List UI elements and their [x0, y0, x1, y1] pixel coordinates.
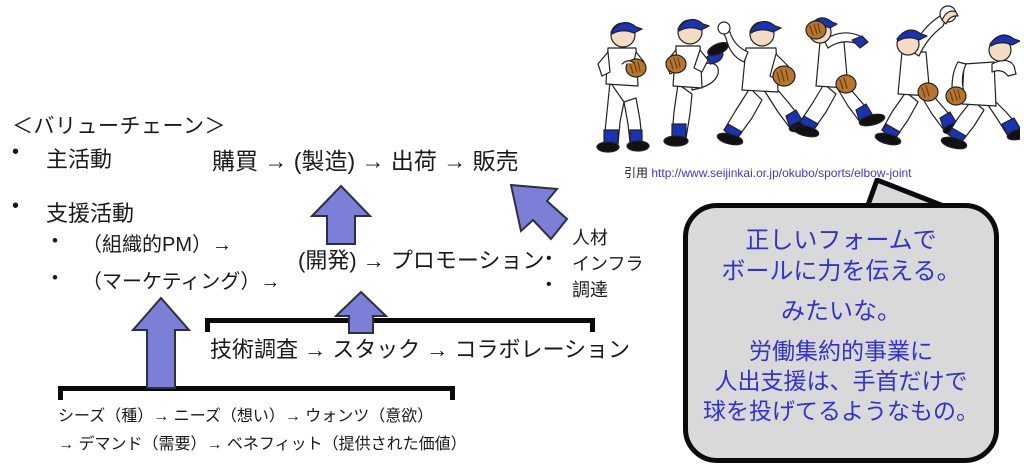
- callout-line-2: ボールに力を伝える。: [721, 256, 960, 287]
- credit-prefix-label: 引用: [624, 166, 648, 180]
- seeds-chain-line-2: → デマンド（需要）→ ベネフィット（提供された価値）: [58, 430, 467, 454]
- arrow-up-tech-to-development: [334, 290, 388, 334]
- callout-text: 正しいフォームで ボールに力を伝える。 みたいな。 労働集約的事業に 人出支援は…: [683, 203, 999, 463]
- support-activities-label: 支援活動: [46, 196, 134, 228]
- arrow-up-seeds-to-marketing: [131, 296, 191, 390]
- resource-label-jinzai: 人材: [572, 225, 608, 251]
- bullet-dot-icon: •: [546, 277, 572, 293]
- primary-activity-chain: 購買 → (製造) → 出荷 → 販売: [212, 142, 519, 176]
- support-sub-label-pm: （組織的PM）→: [82, 228, 232, 257]
- list-item: • 調達: [546, 277, 643, 303]
- bracket-seeds-group: [58, 386, 455, 391]
- pitching-sequence-illustration: [584, 2, 1020, 160]
- bullet-dot-icon: •: [52, 265, 82, 286]
- bullet-dot-icon: •: [52, 228, 82, 249]
- value-chain-header: ＜バリューチェーン＞: [12, 110, 226, 140]
- bullet-dot-icon: •: [12, 196, 46, 216]
- bullet-dot-icon: •: [12, 142, 46, 162]
- callout-line-6: 球を投げてるようなもの。: [703, 396, 979, 426]
- resource-label-infra: インフラ: [572, 251, 643, 277]
- bullet-support-activities: • 支援活動: [12, 196, 134, 228]
- callout-line-5: 人出支援は、手首だけで: [715, 366, 968, 396]
- list-item: • インフラ: [546, 251, 643, 277]
- bullet-primary-activities: • 主活動: [12, 142, 112, 174]
- support-sub-label-marketing: （マーケティング）→: [82, 265, 280, 294]
- bullet-support-sub-1: • （組織的PM）→: [52, 228, 232, 257]
- callout-line-1: 正しいフォームで: [745, 225, 936, 256]
- bullet-support-sub-2: • （マーケティング）→: [52, 265, 280, 294]
- callout-line-3: みたいな。: [781, 296, 901, 327]
- primary-activities-label: 主活動: [46, 142, 112, 174]
- arrow-diagonal-resources-to-primary: [503, 183, 569, 243]
- development-chain: (開発) → プロモーション: [298, 243, 544, 275]
- arrow-up-development-to-primary: [310, 184, 372, 246]
- bullet-dot-icon: •: [546, 251, 572, 267]
- technology-chain: 技術調査 → スタック → コラボレーション: [210, 332, 630, 364]
- callout-line-4: 労働集約的事業に: [749, 336, 933, 366]
- bracket-technology-group: [205, 318, 595, 323]
- seeds-chain-line-1: シーズ（種）→ ニーズ（想い）→ ウォンツ（意欲）: [58, 402, 433, 426]
- resource-label-chotatsu: 調達: [572, 277, 608, 303]
